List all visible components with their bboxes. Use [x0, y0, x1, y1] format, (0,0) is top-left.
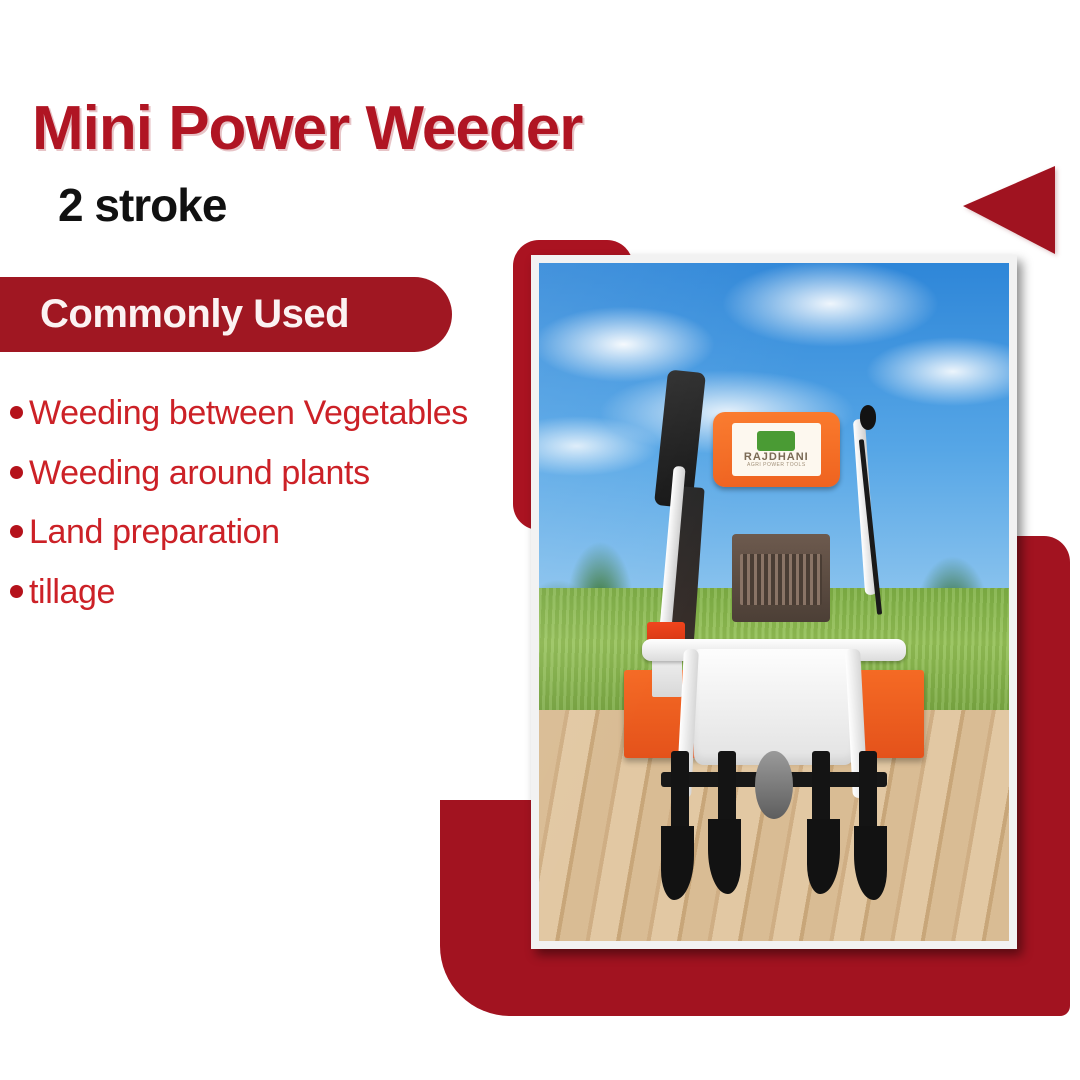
- handle-grip-part: [860, 405, 877, 429]
- bullet-dot-icon: [10, 406, 23, 419]
- commonly-used-badge: Commonly Used: [0, 277, 452, 352]
- product-photo: RAJDHANI AGRI POWER TOOLS: [539, 263, 1009, 941]
- bullet-dot-icon: [10, 525, 23, 538]
- triangle-accent-shape: [963, 166, 1055, 254]
- list-item: Weeding between Vegetables: [10, 396, 530, 432]
- list-item: Weeding around plants: [10, 456, 530, 492]
- bullet-dot-icon: [10, 585, 23, 598]
- list-item-label: tillage: [29, 575, 115, 611]
- tine-arm-part: [859, 751, 878, 832]
- engine-part: [732, 534, 831, 622]
- list-item-label: Land preparation: [29, 515, 280, 551]
- commonly-used-badge-label: Commonly Used: [40, 292, 349, 337]
- brand-logo: RAJDHANI AGRI POWER TOOLS: [732, 423, 821, 477]
- list-item: Land preparation: [10, 515, 530, 551]
- page-title: Mini Power Weeder: [32, 98, 582, 160]
- brand-tagline-label: AGRI POWER TOOLS: [747, 463, 806, 468]
- tine-arm-part: [671, 751, 690, 832]
- product-subtitle: 2 stroke: [58, 182, 226, 228]
- engine-fins-part: [740, 554, 823, 605]
- usage-list: Weeding between Vegetables Weeding aroun…: [10, 396, 530, 635]
- bullet-dot-icon: [10, 466, 23, 479]
- white-guard-part: [694, 649, 854, 764]
- leaf-gear-icon: [757, 431, 795, 451]
- list-item-label: Weeding around plants: [29, 456, 370, 492]
- list-item-label: Weeding between Vegetables: [29, 396, 468, 432]
- product-poster: Mini Power Weeder 2 stroke Commonly Used…: [0, 0, 1080, 1080]
- fuel-tank-part: RAJDHANI AGRI POWER TOOLS: [713, 412, 840, 487]
- tine-hub-part: [755, 751, 793, 819]
- list-item: tillage: [10, 575, 530, 611]
- product-photo-frame: RAJDHANI AGRI POWER TOOLS: [531, 255, 1017, 949]
